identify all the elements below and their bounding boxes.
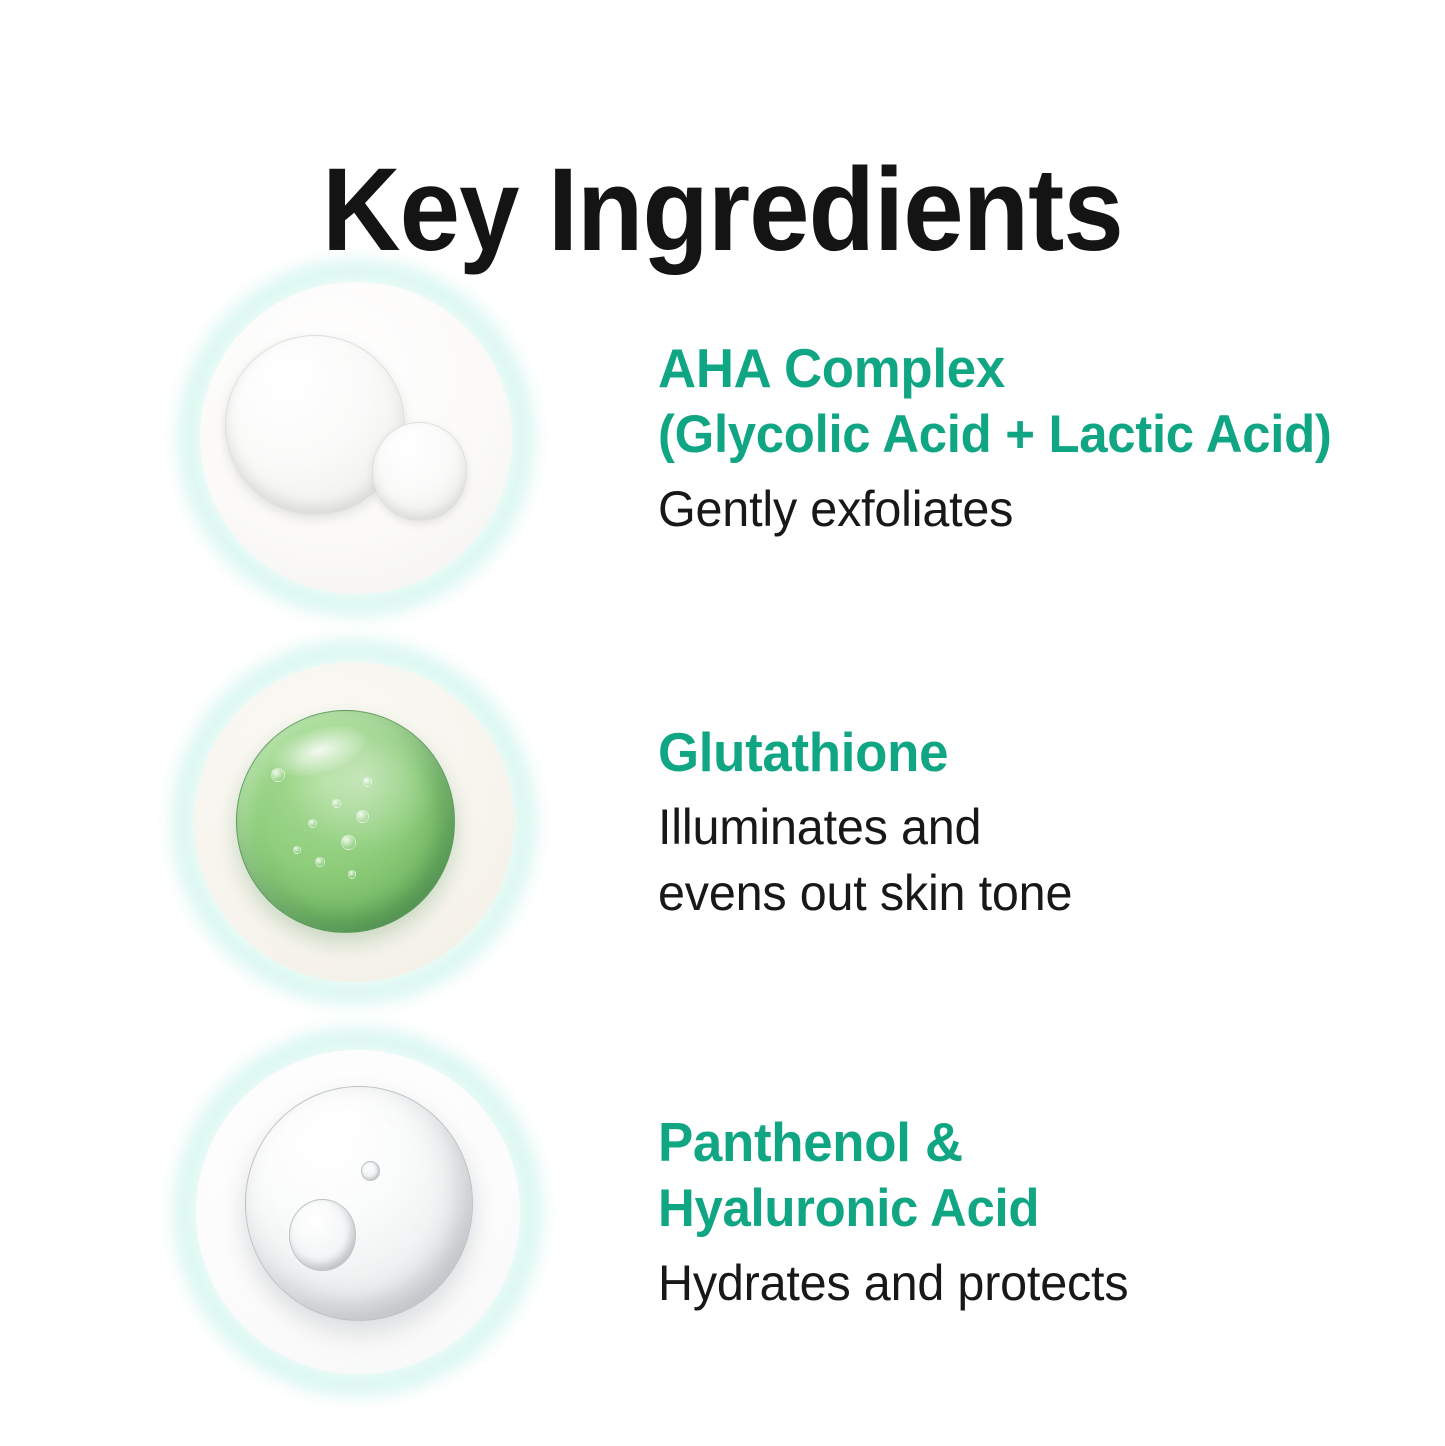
green-gel-droplet-icon xyxy=(194,662,514,982)
ingredient-text-column: AHA Complex (Glycolic Acid + Lactic Acid… xyxy=(636,334,1445,542)
ingredient-description: Gently exfoliates xyxy=(658,476,1383,542)
highlight-sheen xyxy=(276,1093,382,1172)
swatch-aha-complex xyxy=(186,268,526,608)
ingredient-name: AHA Complex xyxy=(658,334,1375,402)
swatch-panthenol-hyaluronic-acid xyxy=(182,1036,534,1388)
ingredient-row: Glutathione Illuminates and evens out sk… xyxy=(0,650,1445,994)
droplet-water xyxy=(245,1086,474,1321)
bubble xyxy=(308,819,317,828)
bubble xyxy=(341,835,356,850)
description-line: Hydrates and protects xyxy=(658,1250,1383,1316)
ingredient-description: Illuminates and evens out skin tone xyxy=(658,794,1383,926)
bubble xyxy=(332,799,341,808)
clear-gel-droplets-icon xyxy=(200,282,512,594)
bubble-small xyxy=(361,1161,380,1180)
droplet-green xyxy=(236,710,456,933)
ingredient-subtitle: (Glycolic Acid + Lactic Acid) xyxy=(658,402,1375,468)
bubble xyxy=(348,870,357,879)
ingredient-media-column xyxy=(0,650,636,994)
bubble xyxy=(363,777,372,787)
bubble xyxy=(293,846,301,854)
clear-water-droplet-icon xyxy=(196,1050,520,1374)
ingredient-media-column xyxy=(0,268,636,608)
key-ingredients-page: Key Ingredients AHA Complex (Glycolic Ac… xyxy=(0,0,1445,1446)
ingredient-row: Panthenol & Hyaluronic Acid Hydrates and… xyxy=(0,1036,1445,1388)
bubble-large xyxy=(289,1199,357,1271)
ingredient-media-column xyxy=(0,1036,636,1388)
ingredient-text-column: Panthenol & Hyaluronic Acid Hydrates and… xyxy=(636,1108,1445,1316)
ingredient-name: Glutathione xyxy=(658,718,1375,786)
bubble xyxy=(356,810,369,823)
ingredient-row: AHA Complex (Glycolic Acid + Lactic Acid… xyxy=(0,268,1445,608)
ingredient-description: Hydrates and protects xyxy=(658,1250,1383,1316)
description-line: Illuminates and xyxy=(658,794,1383,860)
bubble xyxy=(315,857,325,867)
ingredient-subtitle: Hyaluronic Acid xyxy=(658,1176,1375,1242)
swatch-glutathione xyxy=(180,648,528,996)
ingredient-name: Panthenol & xyxy=(658,1108,1375,1176)
page-title: Key Ingredients xyxy=(58,151,1387,269)
droplet-small xyxy=(372,422,468,521)
description-line: Gently exfoliates xyxy=(658,476,1383,542)
description-line: evens out skin tone xyxy=(658,860,1383,926)
bubble xyxy=(271,768,284,781)
ingredient-text-column: Glutathione Illuminates and evens out sk… xyxy=(636,718,1445,926)
